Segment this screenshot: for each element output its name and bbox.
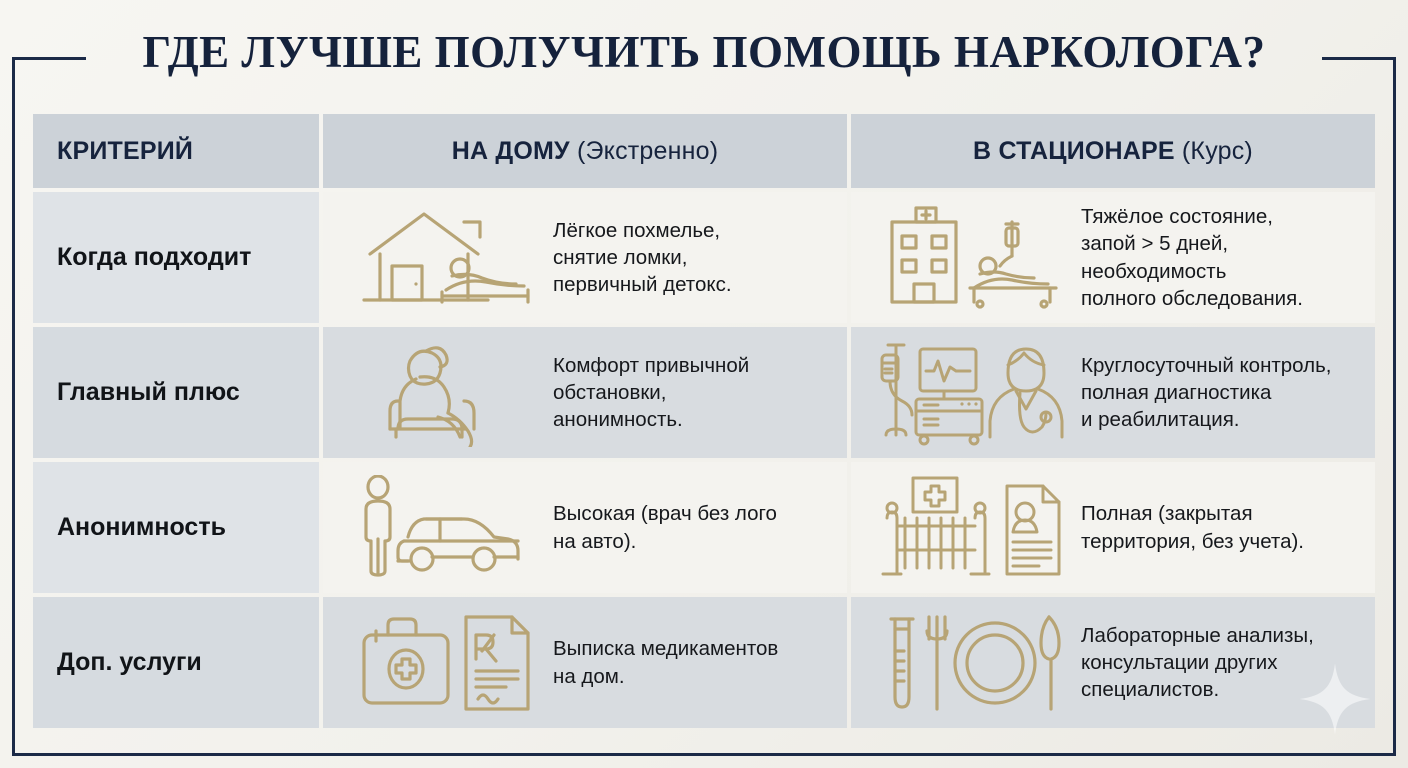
row-clinic-text: Круглосуточный контроль, полная диагност… — [1075, 352, 1361, 433]
row-home-cell: Комфорт привычной обстановки, анонимност… — [323, 327, 847, 458]
row-criteria-cell: Анонимность — [33, 462, 319, 593]
row-criteria-label: Анонимность — [57, 513, 226, 542]
row-home-text: Лёгкое похмелье, снятие ломки, первичный… — [547, 217, 833, 298]
row-clinic-cell: Полная (закрытая территория, без учета). — [851, 462, 1375, 593]
header-criteria-label: КРИТЕРИЙ — [57, 137, 193, 166]
person-beside-car-icon — [337, 473, 547, 583]
row-criteria-label: Главный плюс — [57, 378, 240, 407]
row-home-text: Комфорт привычной обстановки, анонимност… — [547, 352, 833, 433]
row-clinic-text: Тяжёлое состояние, запой > 5 дней, необх… — [1075, 203, 1361, 311]
infographic-root: ГДЕ ЛУЧШЕ ПОЛУЧИТЬ ПОМОЩЬ НАРКОЛОГА? КРИ… — [0, 0, 1408, 768]
row-criteria-cell: Когда подходит — [33, 192, 319, 323]
row-home-text: Выписка медикаментов на дом. — [547, 635, 833, 689]
table-row: Главный плюс — [33, 327, 1375, 458]
first-aid-kit-and-rx-prescription-icon — [337, 608, 547, 718]
row-home-text: Высокая (врач без лого на авто). — [547, 500, 833, 554]
row-clinic-cell: Круглосуточный контроль, полная диагност… — [851, 327, 1375, 458]
hospital-building-with-iv-bed-icon — [865, 203, 1075, 313]
row-criteria-label: Когда подходит — [57, 243, 251, 272]
frame-border-bottom — [12, 753, 1396, 756]
row-clinic-cell: Тяжёлое состояние, запой > 5 дней, необх… — [851, 192, 1375, 323]
fence-with-medical-cross-and-document-icon — [865, 473, 1075, 583]
frame-border-right — [1393, 57, 1396, 756]
table-row: Анонимность — [33, 462, 1375, 593]
person-relaxing-in-armchair-icon — [337, 338, 547, 448]
row-home-cell: Высокая (врач без лого на авто). — [323, 462, 847, 593]
house-with-patient-on-bed-icon — [337, 203, 547, 313]
row-clinic-cell: Лабораторные анализы, консультации други… — [851, 597, 1375, 728]
header-cell-clinic: В СТАЦИОНАРЕ (Курс) — [851, 114, 1375, 188]
row-criteria-cell: Доп. услуги — [33, 597, 319, 728]
comparison-table: КРИТЕРИЙ НА ДОМУ (Экстренно) В СТАЦИОНАР… — [33, 114, 1375, 728]
row-home-cell: Лёгкое похмелье, снятие ломки, первичный… — [323, 192, 847, 323]
row-home-cell: Выписка медикаментов на дом. — [323, 597, 847, 728]
iv-drip-ecg-monitor-doctor-icon — [865, 338, 1075, 448]
table-row: Доп. услуги — [33, 597, 1375, 728]
header-home-label: НА ДОМУ (Экстренно) — [452, 137, 719, 166]
row-clinic-text: Полная (закрытая территория, без учета). — [1075, 500, 1361, 554]
test-tube-and-plate-cutlery-icon — [865, 608, 1075, 718]
page-title: ГДЕ ЛУЧШЕ ПОЛУЧИТЬ ПОМОЩЬ НАРКОЛОГА? — [0, 26, 1408, 78]
header-clinic-sub: (Курс) — [1175, 137, 1253, 165]
header-cell-criteria: КРИТЕРИЙ — [33, 114, 319, 188]
row-clinic-text: Лабораторные анализы, консультации други… — [1075, 622, 1361, 703]
header-clinic-label: В СТАЦИОНАРЕ (Курс) — [973, 137, 1253, 166]
row-criteria-cell: Главный плюс — [33, 327, 319, 458]
header-clinic-main: В СТАЦИОНАРЕ — [973, 137, 1175, 165]
header-home-main: НА ДОМУ — [452, 137, 570, 165]
header-home-sub: (Экстренно) — [570, 137, 718, 165]
table-row: Когда подходит — [33, 192, 1375, 323]
frame-border-left — [12, 57, 15, 756]
header-cell-home: НА ДОМУ (Экстренно) — [323, 114, 847, 188]
table-header-row: КРИТЕРИЙ НА ДОМУ (Экстренно) В СТАЦИОНАР… — [33, 114, 1375, 188]
row-criteria-label: Доп. услуги — [57, 648, 202, 677]
